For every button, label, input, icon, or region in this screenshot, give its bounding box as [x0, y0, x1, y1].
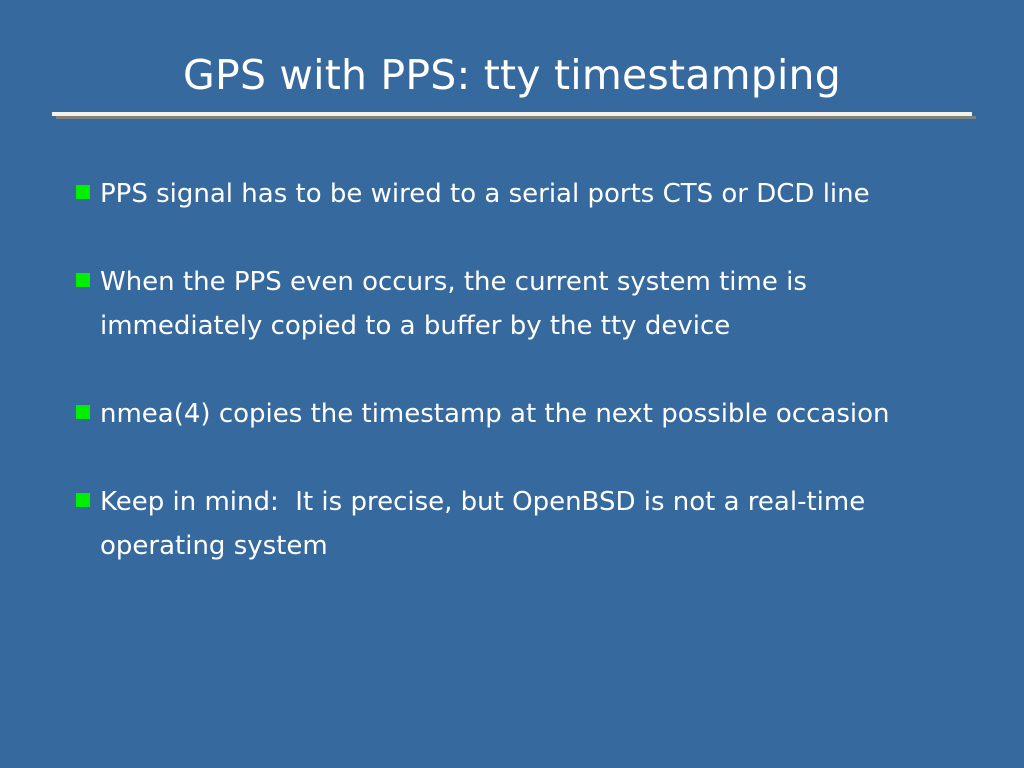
list-item: nmea(4) copies the timestamp at the next…	[76, 392, 956, 436]
title-divider-rule	[52, 112, 972, 119]
list-item-label: When the PPS even occurs, the current sy…	[100, 260, 956, 348]
green-square-bullet-icon	[76, 185, 90, 199]
green-square-bullet-icon	[76, 273, 90, 287]
presentation-slide: GPS with PPS: tty timestamping PPS signa…	[0, 0, 1024, 768]
page-title: GPS with PPS: tty timestamping	[0, 50, 1024, 100]
divider-shadow	[56, 116, 976, 119]
green-square-bullet-icon	[76, 493, 90, 507]
list-item: Keep in mind: It is precise, but OpenBSD…	[76, 480, 956, 568]
list-item: PPS signal has to be wired to a serial p…	[76, 172, 956, 216]
list-item-label: nmea(4) copies the timestamp at the next…	[100, 392, 956, 436]
list-item: When the PPS even occurs, the current sy…	[76, 260, 956, 348]
slide-title-block: GPS with PPS: tty timestamping	[0, 50, 1024, 100]
green-square-bullet-icon	[76, 405, 90, 419]
list-item-label: Keep in mind: It is precise, but OpenBSD…	[100, 480, 956, 568]
bullet-list: PPS signal has to be wired to a serial p…	[76, 172, 956, 568]
list-item-label: PPS signal has to be wired to a serial p…	[100, 172, 956, 216]
